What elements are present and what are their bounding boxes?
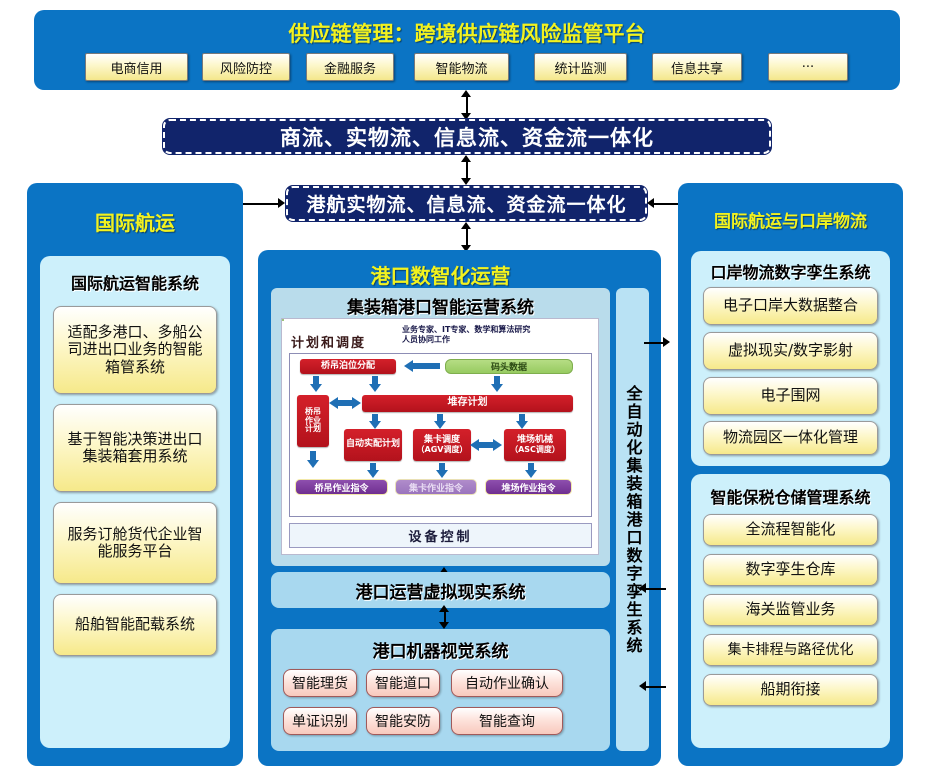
inner-section-label: 计划和调度 [291,332,366,351]
right-group-1-item[interactable]: 虚拟现实/数字影射 [703,332,878,370]
inner-box-yard-machine: 堆场机械 （ASC调度） [504,429,566,461]
center-panel-title: 港口数智化运营 [258,260,623,289]
left-group-item[interactable]: 服务订舱货代企业智能服务平台 [53,502,217,584]
top-bar-button[interactable]: 金融服务 [306,53,394,81]
top-bar-button[interactable]: 信息共享 [652,53,742,81]
top-bar-button[interactable]: 统计监测 [534,53,627,81]
vision-item[interactable]: 智能查询 [451,707,563,735]
inner-box-auto-match-plan: 自动实配计划 [344,429,402,461]
top-bar-button[interactable]: 智能物流 [414,53,509,81]
top-bar-button[interactable]: 风险防控 [202,53,290,81]
right-group-1-item[interactable]: 物流园区一体化管理 [703,421,878,455]
inner-box-berth-allocation: 桥吊泊位分配 [300,359,396,374]
inner-box-truck-scheduling: 集卡调度 （AGV调度） [413,429,471,461]
top-bar-button[interactable]: ··· [768,53,848,81]
supply-chain-top-panel: 供应链管理：跨境供应链风险监管平台 电商信用 风险防控 金融服务 智能物流 统计… [34,10,900,90]
right-panel-shipping-and-port-logistics: 国际航运与口岸物流 口岸物流数字孪生系统 电子口岸大数据整合 虚拟现实/数字影射… [678,183,903,766]
digital-twin-vertical-label: 全自动化集装箱港口数字孪生系统 [625,385,641,655]
inner-box-yard-machine-sub: （ASC调度） [510,446,560,454]
integration-bar-commerce-flow: 商流、实物流、信息流、资金流一体化 [162,118,772,155]
inner-box-dock-data: 码头数据 [445,359,573,374]
center-panel-port-digital-operation: 港口数智化运营 集装箱港口智能运营系统 计划和调度 业务专家、IT专家、数学和算… [258,250,661,766]
right-panel-title: 国际航运与口岸物流 [678,207,903,232]
vision-system-title: 港口机器视觉系统 [271,637,610,662]
inner-diagram-image: 计划和调度 业务专家、IT专家、数学和算法研究人员协同工作 桥吊泊位分配 码头数… [281,318,599,555]
right-group-port-logistics-digital-twin: 口岸物流数字孪生系统 电子口岸大数据整合 虚拟现实/数字影射 电子围网 物流园区… [691,251,890,466]
left-panel-title: 国际航运 [27,207,243,236]
inner-system-title: 集装箱港口智能运营系统 [271,293,610,318]
inner-box-truck-scheduling-sub: （AGV调度） [417,446,468,454]
integration-bar-1-label: 商流、实物流、信息流、资金流一体化 [280,122,654,152]
right-group-2-title: 智能保税仓储管理系统 [691,484,890,508]
port-machine-vision-system: 港口机器视觉系统 智能理货 智能道口 自动作业确认 单证识别 智能安防 智能查询 [271,629,610,751]
left-panel-international-shipping: 国际航运 国际航运智能系统 适配多港口、多船公司进出口业务的智能箱管系统 基于智… [27,183,243,766]
inner-box-terminal-data [282,319,284,321]
vision-item[interactable]: 智能理货 [283,669,357,697]
right-group-1-title: 口岸物流数字孪生系统 [691,259,890,283]
inner-instruction-truck: 集卡作业指令 [395,479,477,495]
vr-system-label: 港口运营虚拟现实系统 [356,578,526,603]
right-group-2-item[interactable]: 数字孪生仓库 [703,554,878,586]
inner-box-crane-work-plan: 桥吊作业计划 [297,395,329,447]
right-group-2-item[interactable]: 集卡排程与路径优化 [703,634,878,666]
left-group-item[interactable]: 适配多港口、多船公司进出口业务的智能箱管系统 [53,306,217,394]
inner-box-crane-work-plan-label: 桥吊作业计划 [304,408,322,433]
vision-item[interactable]: 智能道口 [366,669,440,697]
integration-bar-port-flow: 港航实物流、信息流、资金流一体化 [285,185,648,222]
top-bar-title: 供应链管理：跨境供应链风险监管平台 [34,18,900,48]
right-group-1-item[interactable]: 电子口岸大数据整合 [703,287,878,325]
right-group-2-item[interactable]: 全流程智能化 [703,514,878,546]
inner-collaboration-note: 业务专家、IT专家、数学和算法研究人员协同工作 [402,325,532,345]
inner-equipment-control: 设备控制 [289,523,592,548]
vision-item[interactable]: 单证识别 [283,707,357,735]
inner-box-stack-plan: 堆存计划 [362,395,573,412]
integration-bar-2-label: 港航实物流、信息流、资金流一体化 [306,190,626,217]
right-group-1-item[interactable]: 电子围网 [703,377,878,415]
inner-instruction-yard: 堆场作业指令 [485,479,572,495]
right-group-bonded-warehouse-management: 智能保税仓储管理系统 全流程智能化 数字孪生仓库 海关监管业务 集卡排程与路径优… [691,474,890,748]
right-group-2-item[interactable]: 船期衔接 [703,674,878,706]
right-group-2-item[interactable]: 海关监管业务 [703,594,878,626]
left-group-item[interactable]: 基于智能决策进出口集装箱套用系统 [53,404,217,492]
left-group-shipping-intelligent-system: 国际航运智能系统 适配多港口、多船公司进出口业务的智能箱管系统 基于智能决策进出… [40,256,230,748]
inner-instruction-crane: 桥吊作业指令 [295,479,388,495]
left-group-item[interactable]: 船舶智能配载系统 [53,594,217,656]
top-bar-button[interactable]: 电商信用 [85,53,188,81]
container-terminal-intelligent-operation-system: 集装箱港口智能运营系统 计划和调度 业务专家、IT专家、数学和算法研究人员协同工… [271,288,610,566]
left-group-title: 国际航运智能系统 [40,270,230,294]
vision-item[interactable]: 智能安防 [366,707,440,735]
port-operation-vr-system[interactable]: 港口运营虚拟现实系统 [271,572,610,608]
vision-item[interactable]: 自动作业确认 [451,669,563,697]
